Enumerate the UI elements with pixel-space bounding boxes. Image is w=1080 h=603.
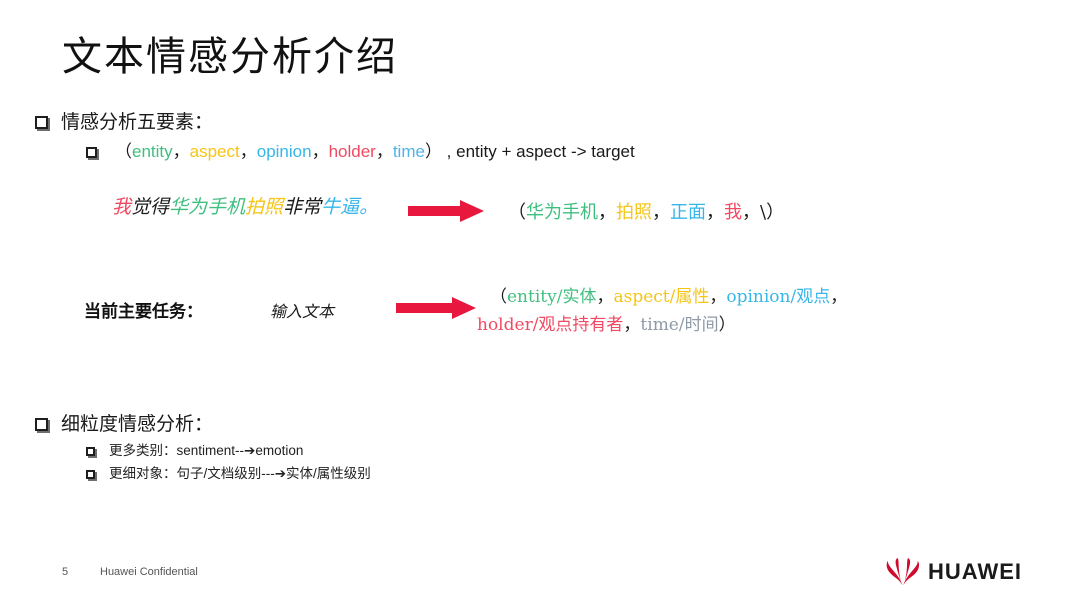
tuple-sep-2: ， [240,142,257,161]
task-time: time/时间 [640,315,718,335]
bullet-five-elements-label: 情感分析五要素： [61,112,213,133]
task-sep-3: ， [830,287,847,307]
fine-grained-item-1-label: 更多类别：sentiment--➔emotion [109,443,303,458]
task-sep-2: ， [709,287,726,307]
confidentiality-notice: Huawei Confidential [100,566,198,578]
paren-open: （ [115,142,132,161]
task-output-tuple: （entity/实体，aspect/属性，opinion/观点，holder/观… [490,283,847,339]
task-paren-close: ） [719,315,736,335]
fine-grained-item-2: 更细对象：句子/文档级别---➔实体/属性级别 [86,462,371,482]
result-sep-4: ， [742,202,760,223]
tuple-aspect: aspect [190,142,240,161]
result-sep-3: ， [706,202,724,223]
huawei-wordmark: HUAWEI [928,559,1022,585]
arrow-right-icon-task [396,297,476,319]
result-entity: 华为手机 [526,202,598,223]
task-aspect: aspect/属性 [613,287,709,307]
result-paren-open: （ [508,202,526,223]
bullet-square-icon [35,116,48,129]
result-opinion: 正面 [670,202,706,223]
tuple-sep-1: ， [173,142,190,161]
huawei-logo: HUAWEI [886,558,1022,586]
arrow-right-icon-example [408,200,484,222]
example-adverb: 非常 [283,196,321,218]
example-sentence: 我觉得华为手机拍照非常牛逼。 [112,192,378,219]
task-sep-4: ， [623,315,640,335]
result-holder: 我 [724,202,742,223]
bullet-fine-grained: 细粒度情感分析： [35,409,213,436]
result-sep-1: ， [598,202,616,223]
example-aspect: 拍照 [245,196,283,218]
slide-canvas: 文本情感分析介绍 情感分析五要素： （entity，aspect，opinion… [0,0,1080,603]
task-sep-1: ， [596,287,613,307]
huawei-flower-icon [886,558,920,586]
task-input-text: 输入文本 [270,298,334,322]
task-opinion: opinion/观点 [726,287,830,307]
fine-grained-item-1: 更多类别：sentiment--➔emotion [86,439,303,459]
tuple-sep-4: ， [376,142,393,161]
tuple-definition-row: （entity，aspect，opinion，holder，time） , en… [86,137,635,162]
example-holder: 我 [112,196,131,218]
bullet-square-icon [86,147,97,158]
tuple-opinion: opinion [257,142,312,161]
bullet-square-icon [86,470,95,479]
task-holder: holder/观点持有者 [477,315,623,335]
tuple-holder: holder [329,142,376,161]
example-result-tuple: （华为手机，拍照，正面，我，\） [508,198,784,224]
paren-close: ） [425,142,442,161]
bullet-five-elements: 情感分析五要素： [35,107,213,134]
result-aspect: 拍照 [616,202,652,223]
tuple-time: time [393,142,425,161]
result-sep-2: ， [652,202,670,223]
tuple-definition-text: （entity，aspect，opinion，holder，time） , en… [115,142,635,161]
tuple-suffix: , entity + aspect -> target [442,142,635,161]
tuple-sep-3: ， [312,142,329,161]
bullet-fine-grained-label: 细粒度情感分析： [61,414,213,435]
example-opinion: 牛逼 [321,196,359,218]
bullet-square-icon [86,447,95,456]
example-period: 。 [359,196,378,218]
example-verb: 觉得 [131,196,169,218]
page-title: 文本情感分析介绍 [62,24,398,82]
task-entity: entity/实体 [507,287,596,307]
example-entity: 华为手机 [169,196,245,218]
current-task-label: 当前主要任务： [84,297,203,322]
page-number: 5 [62,566,68,578]
fine-grained-item-2-label: 更细对象：句子/文档级别---➔实体/属性级别 [109,466,371,481]
result-paren-close: ） [766,202,784,223]
bullet-square-icon [35,418,48,431]
tuple-entity: entity [132,142,173,161]
task-paren-open: （ [490,287,507,307]
